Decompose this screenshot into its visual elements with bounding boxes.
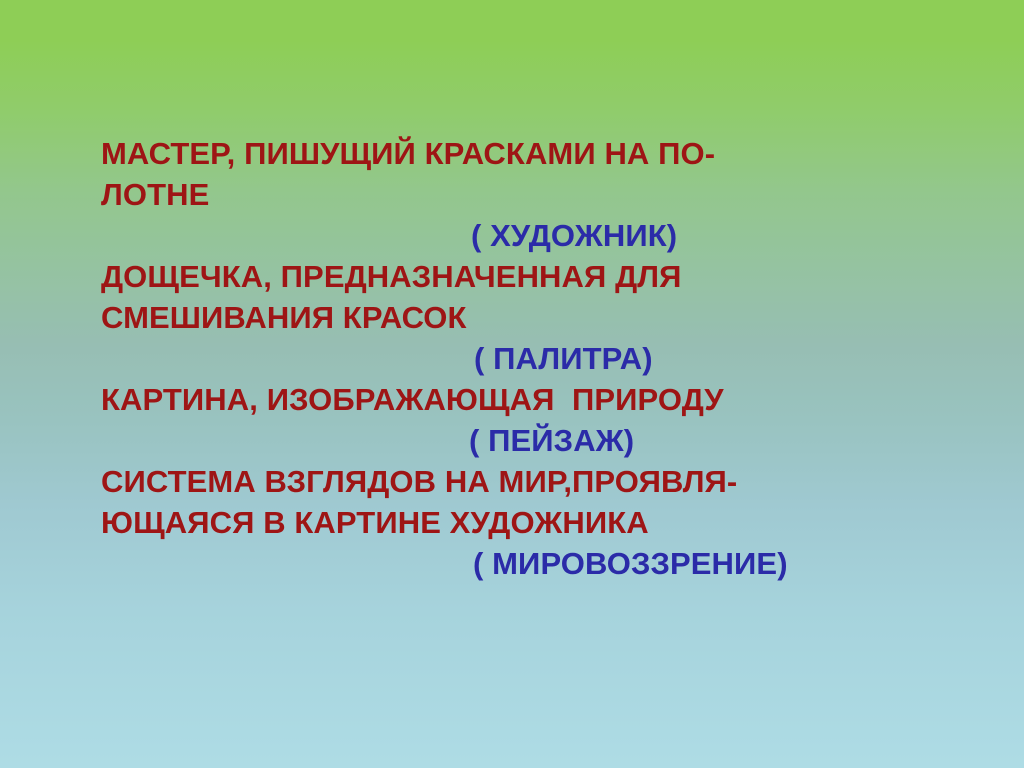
definition-worldview-line-1: СИСТЕМА ВЗГЛЯДОВ НА МИР,ПРОЯВЛЯ- (101, 461, 961, 502)
answer-worldview: ( МИРОВОЗЗРЕНИЕ) (101, 543, 961, 584)
definition-artist-line-1: МАСТЕР, ПИШУЩИЙ КРАСКАМИ НА ПО- (101, 133, 961, 174)
definition-palette-line-1: ДОЩЕЧКА, ПРЕДНАЗНАЧЕННАЯ ДЛЯ (101, 256, 961, 297)
definition-worldview-line-2: ЮЩАЯСЯ В КАРТИНЕ ХУДОЖНИКА (101, 502, 961, 543)
definitions-text-block: МАСТЕР, ПИШУЩИЙ КРАСКАМИ НА ПО- ЛОТНЕ ( … (101, 133, 961, 584)
definition-palette-line-2: СМЕШИВАНИЯ КРАСОК (101, 297, 961, 338)
answer-palette: ( ПАЛИТРА) (101, 338, 961, 379)
answer-artist: ( ХУДОЖНИК) (101, 215, 961, 256)
slide-canvas: МАСТЕР, ПИШУЩИЙ КРАСКАМИ НА ПО- ЛОТНЕ ( … (0, 0, 1024, 768)
answer-landscape: ( ПЕЙЗАЖ) (101, 420, 961, 461)
definition-artist-line-2: ЛОТНЕ (101, 174, 961, 215)
definition-landscape-line-1: КАРТИНА, ИЗОБРАЖАЮЩАЯ ПРИРОДУ (101, 379, 961, 420)
